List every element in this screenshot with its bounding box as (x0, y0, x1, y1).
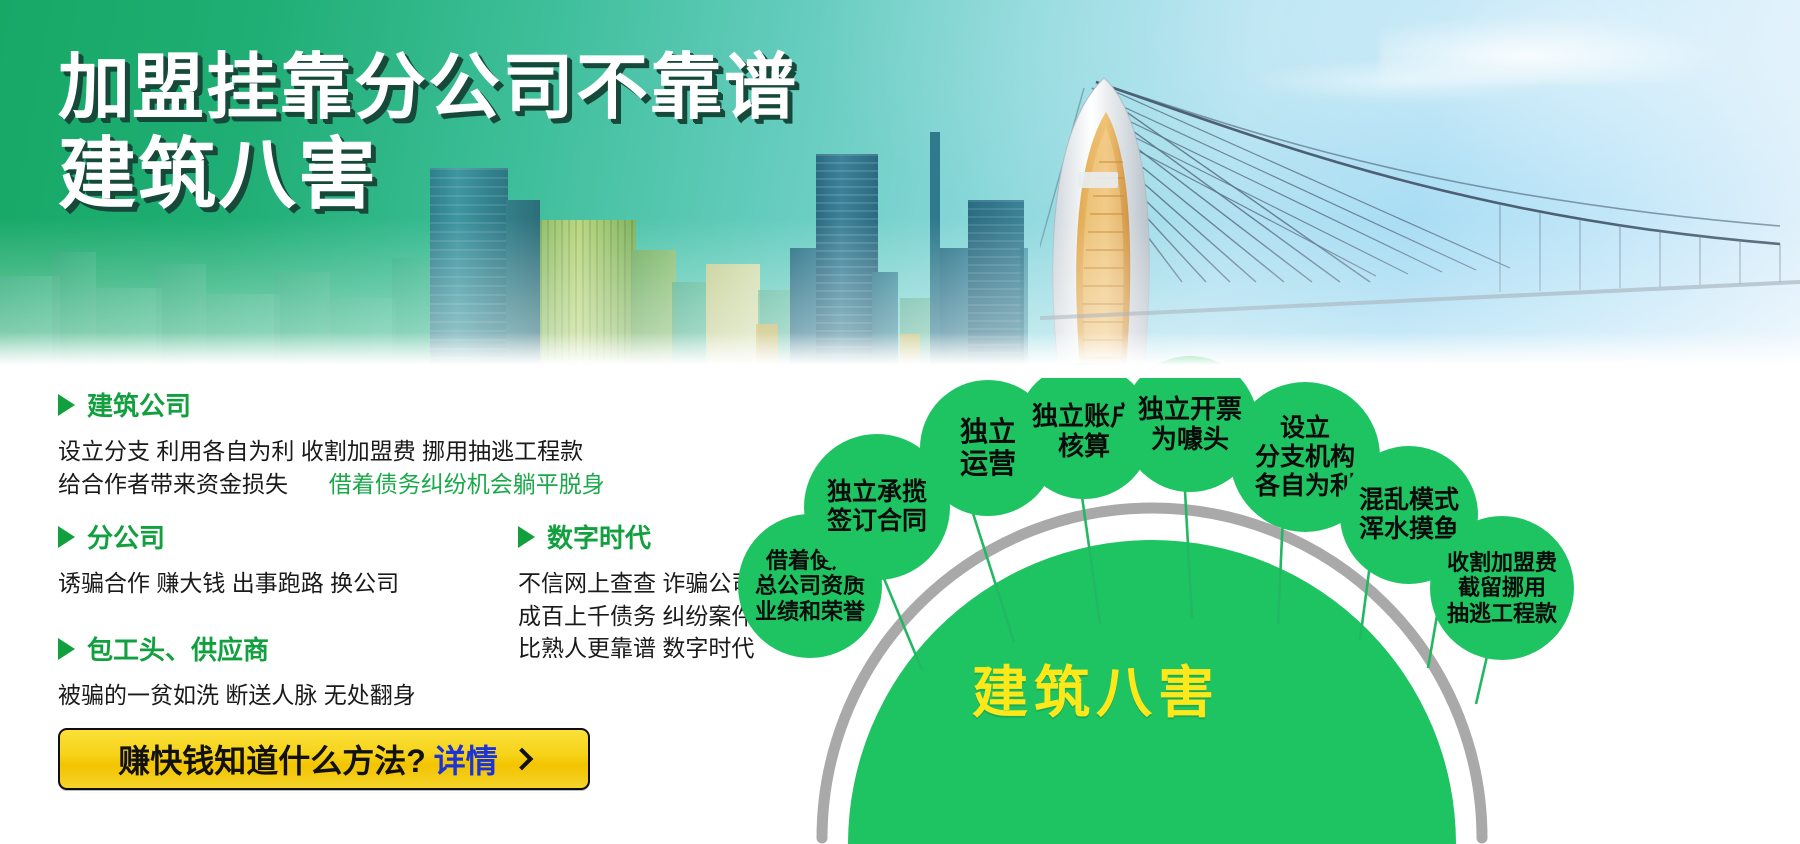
section-heading: 数字时代 (518, 518, 754, 555)
triangle-bullet-icon (58, 526, 75, 548)
triangle-bullet-icon (518, 526, 535, 548)
body-line: 成百上千债务 纠纷案件 (518, 600, 754, 633)
bubble-line: 独立承揽 (827, 478, 927, 507)
bubble-line: 核算 (1032, 431, 1136, 461)
body-text: 诱骗合作 赚大钱 出事跑路 换公司 (58, 570, 399, 596)
chevron-right-icon (510, 748, 533, 771)
section-body: 诱骗合作 赚大钱 出事跑路 换公司 (58, 567, 399, 600)
section-heading: 建筑公司 (58, 386, 605, 423)
body-line: 不信网上查查 诈骗公司 (518, 567, 754, 600)
body-line: 诱骗合作 赚大钱 出事跑路 换公司 (58, 567, 399, 600)
bubble-line: 分支机构 (1255, 443, 1355, 472)
hero-bottom-fade (0, 332, 1800, 378)
bubble-line: 为噱头 (1138, 424, 1242, 454)
section-heading-label: 包工头、供应商 (87, 630, 269, 667)
body-text: 被骗的一贫如洗 断送人脉 无处翻身 (58, 682, 416, 708)
body-line: 给合作者带来资金损失 借着债务纠纷机会躺平脱身 (58, 468, 605, 501)
bubble-line: 截留挪用 (1447, 575, 1557, 601)
bubble-line: 总公司资质 (755, 573, 865, 599)
hero-title: 加盟挂靠分公司不靠谱 建筑八害 (58, 52, 798, 215)
bubble-item[interactable]: 收割加盟费 截留挪用 抽逃工程款 (1430, 516, 1574, 660)
section-construction-company: 建筑公司 设立分支 利用各自为利 收割加盟费 挪用抽逃工程款 给合作者带来资金损… (58, 386, 605, 500)
body-line: 比熟人更靠谱 数字时代 (518, 632, 754, 665)
cta-link-label: 详情 (434, 736, 498, 782)
body-text: 设立分支 利用各自为利 收割加盟费 挪用抽逃工程款 (58, 438, 583, 464)
body-text: 成百上千债务 纠纷案件 (518, 603, 754, 629)
hero-banner: 加盟挂靠分公司不靠谱 建筑八害 (0, 0, 1800, 368)
section-digital-era: 数字时代 不信网上查查 诈骗公司 成百上千债务 纠纷案件 比熟人更靠谱 数字时代 (518, 518, 754, 665)
bubble-line: 浑水摸鱼 (1359, 515, 1459, 544)
dome-label: 建筑八害 (972, 648, 1220, 729)
poster-root: 加盟挂靠分公司不靠谱 建筑八害 建筑公司 设立分支 利用各自为利 收割加盟费 挪… (0, 0, 1800, 844)
left-content-panel: 建筑公司 设立分支 利用各自为利 收割加盟费 挪用抽逃工程款 给合作者带来资金损… (0, 368, 800, 844)
hero-title-line2: 建筑八害 (58, 135, 798, 215)
section-heading-label: 分公司 (87, 518, 165, 555)
body-text: 不信网上查查 诈骗公司 (518, 570, 754, 596)
bubble-line: 混乱模式 (1359, 486, 1459, 515)
body-text: 给合作者带来资金损失 (58, 471, 288, 497)
bubble-line: 独立账户 (1032, 401, 1136, 431)
bubble-line: 抽逃工程款 (1447, 601, 1557, 627)
section-body: 设立分支 利用各自为利 收割加盟费 挪用抽逃工程款 给合作者带来资金损失 借着债… (58, 435, 605, 500)
triangle-bullet-icon (58, 394, 75, 416)
infographic-panel: 借着使用 总公司资质 业绩和荣誉 独立承揽 签订合同 独立 运营 独立账户 核算 (800, 368, 1800, 844)
body-text: 比熟人更靠谱 数字时代 (518, 635, 754, 661)
bubble-line: 签订合同 (827, 507, 927, 536)
bubble-line: 收割加盟费 (1447, 550, 1557, 576)
body-text-highlight: 借着债务纠纷机会躺平脱身 (329, 471, 605, 497)
bubble-line: 设立 (1255, 414, 1355, 443)
body-line: 设立分支 利用各自为利 收割加盟费 挪用抽逃工程款 (58, 435, 605, 468)
body-line: 被骗的一贫如洗 断送人脉 无处翻身 (58, 679, 416, 712)
section-contractor-supplier: 包工头、供应商 被骗的一贫如洗 断送人脉 无处翻身 (58, 630, 416, 712)
hero-title-line1: 加盟挂靠分公司不靠谱 (58, 52, 798, 125)
cta-label: 赚快钱知道什么方法? (118, 736, 426, 782)
triangle-bullet-icon (58, 638, 75, 660)
bubble-line: 业绩和荣誉 (755, 599, 865, 625)
bubble-line: 独立开票 (1138, 394, 1242, 424)
cta-button[interactable]: 赚快钱知道什么方法? 详情 (58, 728, 590, 790)
bubble-line: 运营 (960, 448, 1016, 480)
bubble-line: 独立 (960, 416, 1016, 448)
section-heading: 包工头、供应商 (58, 630, 416, 667)
bubble-line: 各自为利 (1255, 472, 1355, 501)
section-body: 不信网上查查 诈骗公司 成百上千债务 纠纷案件 比熟人更靠谱 数字时代 (518, 567, 754, 665)
section-heading-label: 建筑公司 (87, 386, 191, 423)
section-body: 被骗的一贫如洗 断送人脉 无处翻身 (58, 679, 416, 712)
section-branch-company: 分公司 诱骗合作 赚大钱 出事跑路 换公司 (58, 518, 399, 600)
section-heading-label: 数字时代 (547, 518, 651, 555)
section-heading: 分公司 (58, 518, 399, 555)
